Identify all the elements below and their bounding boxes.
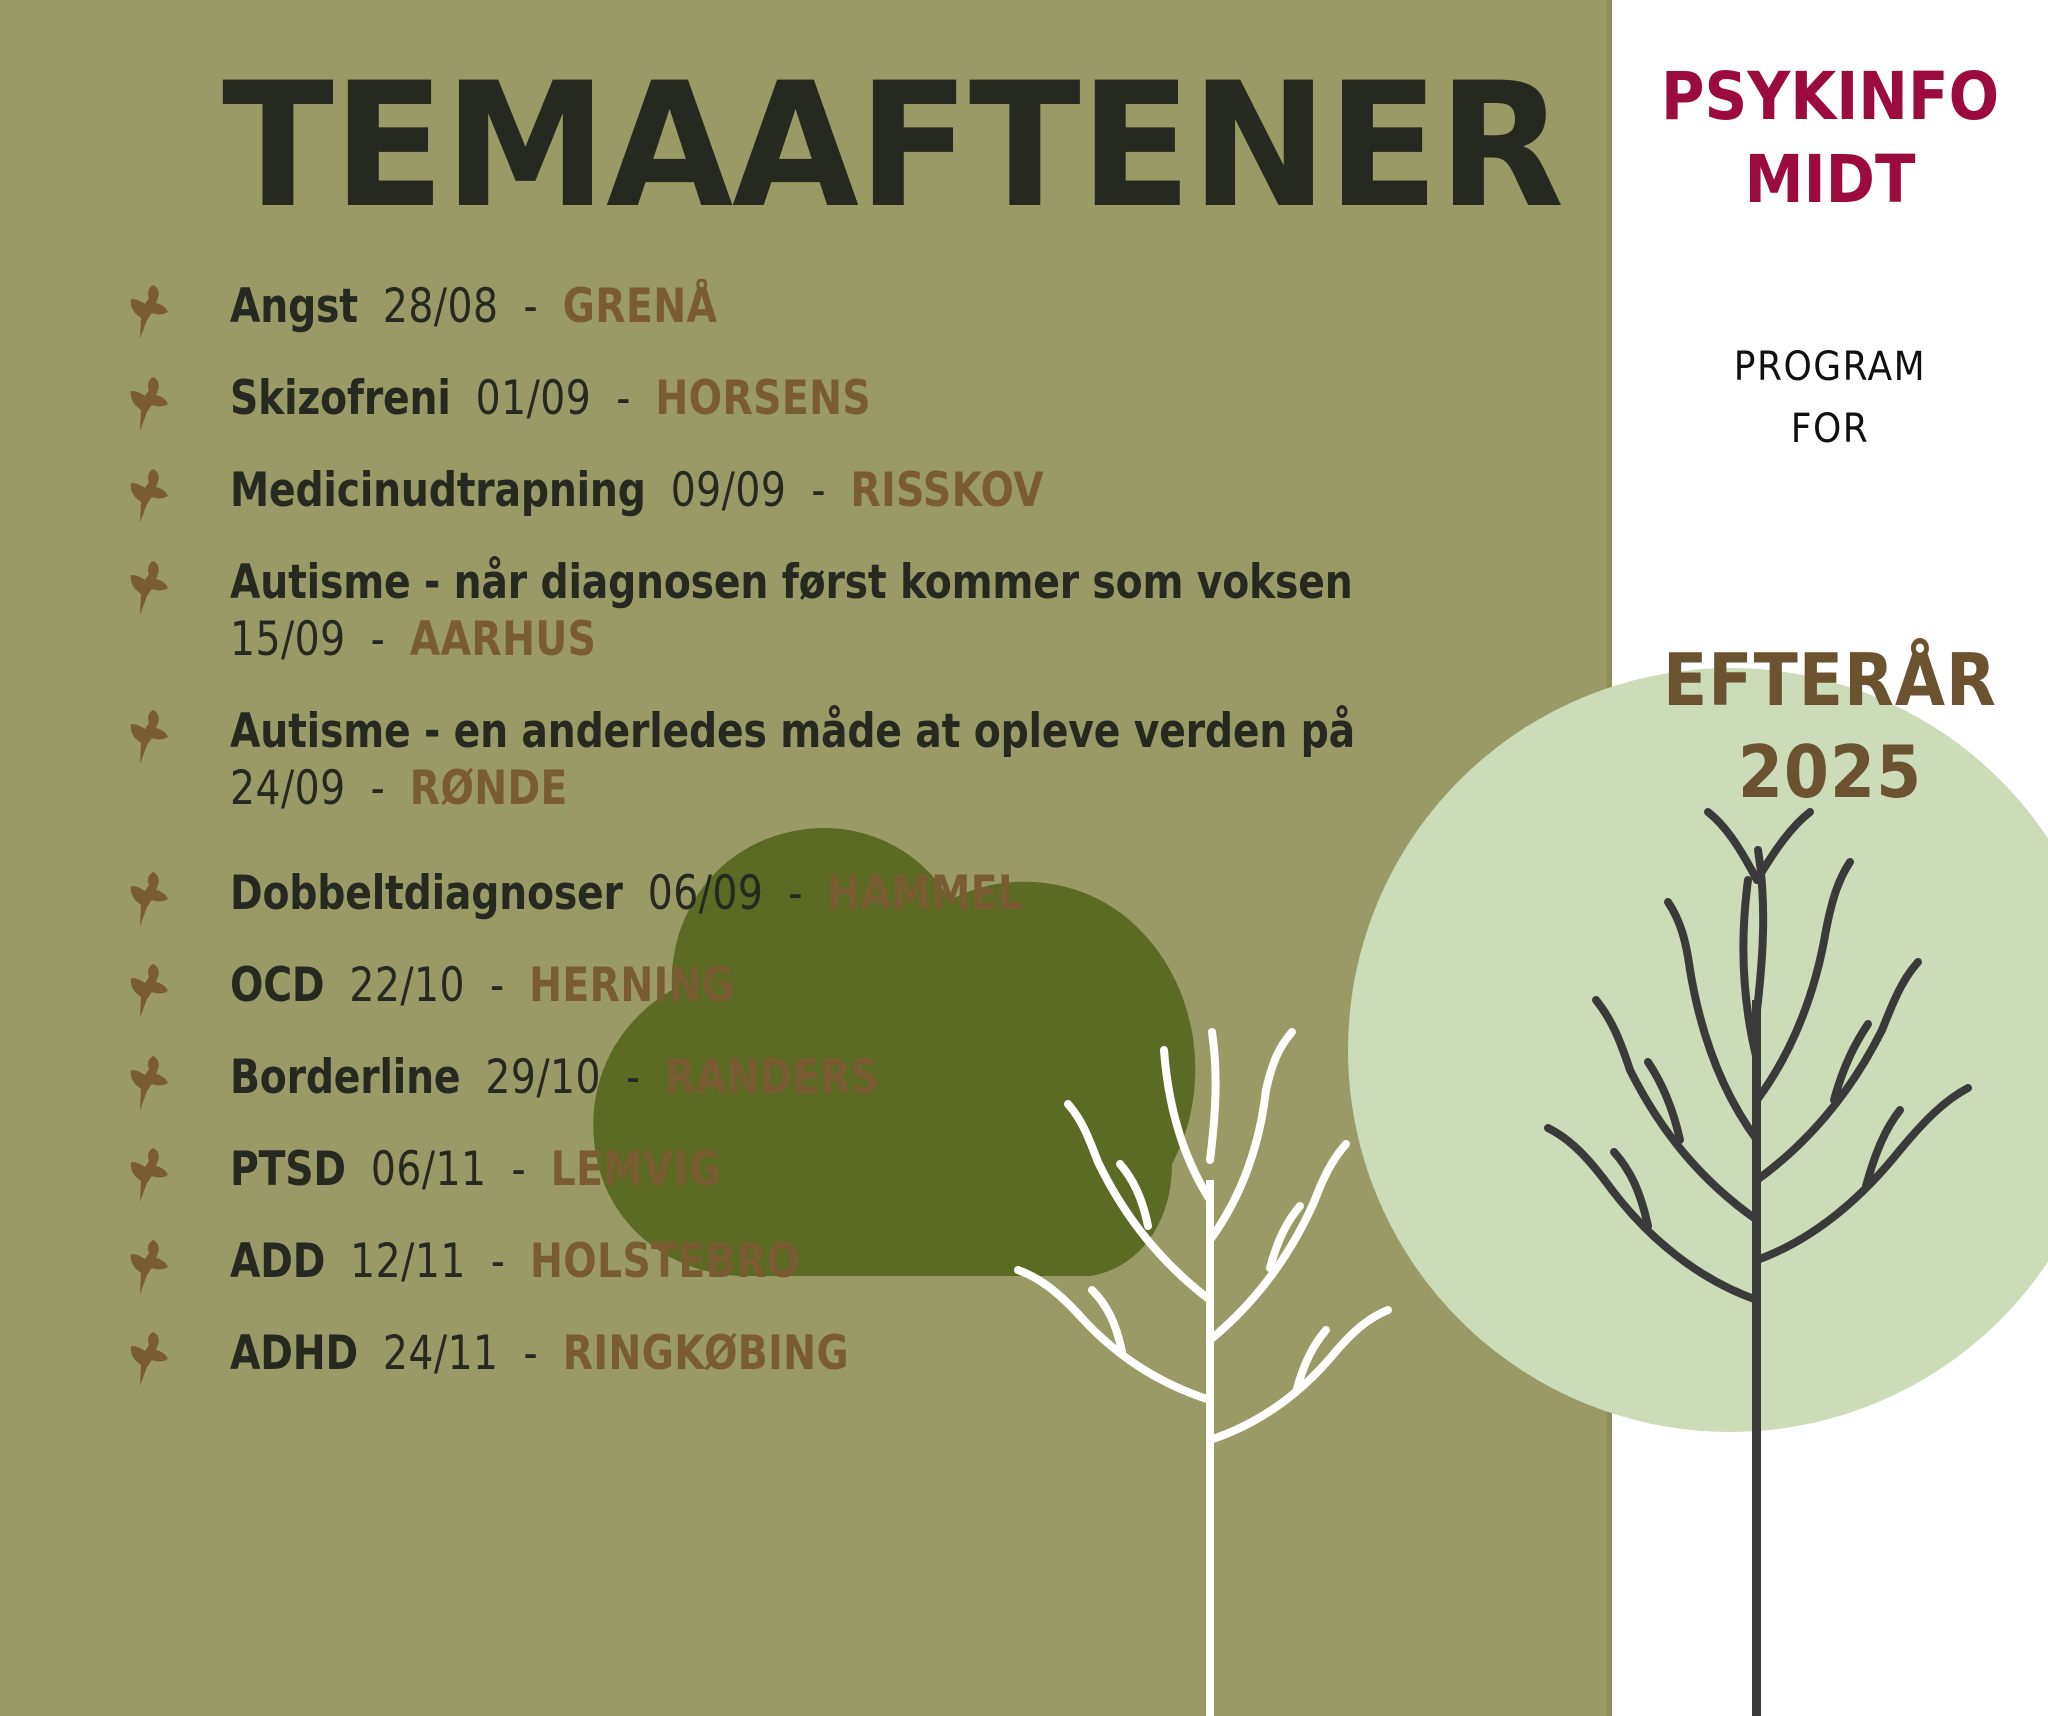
event-date: 09/09 xyxy=(671,463,787,518)
event-text: Autisme - en anderledes måde at opleve v… xyxy=(230,703,1448,818)
pushpin-icon xyxy=(120,957,230,1023)
event-text: Medicinudtrapning 09/09 - RISSKOV xyxy=(230,462,1448,519)
event-city: RISSKOV xyxy=(850,463,1043,518)
event-date: 12/11 xyxy=(350,1234,466,1289)
list-item[interactable]: ADHD 24/11 - RINGKØBING xyxy=(120,1325,1540,1391)
right-sidebar: PSYKINFO MIDT PROGRAM FOR EFTERÅR 2025 xyxy=(1612,0,2048,1716)
brand-logo: PSYKINFO MIDT xyxy=(1612,56,2048,221)
event-text: Angst 28/08 - GRENÅ xyxy=(230,278,1448,335)
pushpin-icon xyxy=(120,462,230,528)
event-city: HAMMEL xyxy=(828,866,1024,921)
event-topic: Skizofreni xyxy=(230,371,451,426)
event-date: 06/09 xyxy=(648,866,764,921)
event-text: ADD 12/11 - HOLSTEBRO xyxy=(230,1233,1448,1290)
list-item[interactable]: Autisme - når diagnosen først kommer som… xyxy=(120,554,1540,669)
event-topic: Autisme - når diagnosen først kommer som… xyxy=(230,555,1353,610)
event-dash: - xyxy=(626,1050,640,1105)
brand-line-midt: MIDT xyxy=(1612,139,2048,222)
event-date: 29/10 xyxy=(485,1050,601,1105)
event-topic: ADHD xyxy=(230,1326,358,1381)
event-city: RINGKØBING xyxy=(563,1326,849,1381)
event-dash: - xyxy=(524,1326,538,1381)
season-year: 2025 xyxy=(1612,726,2048,818)
program-for-label: PROGRAM FOR xyxy=(1612,336,2048,460)
pushpin-icon xyxy=(120,554,230,620)
list-item[interactable]: OCD 22/10 - HERNING xyxy=(120,957,1540,1023)
pushpin-icon xyxy=(120,1325,230,1391)
event-city: LEMVIG xyxy=(551,1142,722,1197)
event-dash: - xyxy=(491,1234,505,1289)
pushpin-icon xyxy=(120,370,230,436)
event-topic: PTSD xyxy=(230,1142,346,1197)
event-dash: - xyxy=(811,463,825,518)
pushpin-icon xyxy=(120,278,230,344)
event-text: Borderline 29/10 - RANDERS xyxy=(230,1049,1448,1106)
event-text: Autisme - når diagnosen først kommer som… xyxy=(230,554,1448,669)
event-topic: Dobbeltdiagnoser xyxy=(230,866,623,921)
event-city: AARHUS xyxy=(410,612,597,667)
event-dash: - xyxy=(788,866,802,921)
event-date: 22/10 xyxy=(349,958,465,1013)
pushpin-icon xyxy=(120,1141,230,1207)
pushpin-icon xyxy=(120,1233,230,1299)
event-city: HERNING xyxy=(529,958,734,1013)
event-dash: - xyxy=(371,761,385,816)
season-label: EFTERÅR 2025 xyxy=(1612,634,2048,818)
event-city: GRENÅ xyxy=(563,279,718,334)
event-dash: - xyxy=(523,279,537,334)
event-dash: - xyxy=(511,1142,525,1197)
event-topic: Borderline xyxy=(230,1050,460,1105)
event-text: OCD 22/10 - HERNING xyxy=(230,957,1448,1014)
list-item[interactable]: ADD 12/11 - HOLSTEBRO xyxy=(120,1233,1540,1299)
list-item[interactable]: Medicinudtrapning 09/09 - RISSKOV xyxy=(120,462,1540,528)
page-title: TEMAAFTENER xyxy=(222,60,1563,232)
event-date: 24/11 xyxy=(383,1326,499,1381)
event-topic: Autisme - en anderledes måde at opleve v… xyxy=(230,704,1355,759)
event-date: 15/09 xyxy=(230,612,346,667)
list-item[interactable]: PTSD 06/11 - LEMVIG xyxy=(120,1141,1540,1207)
pushpin-icon xyxy=(120,1049,230,1115)
list-item[interactable]: Dobbeltdiagnoser 06/09 - HAMMEL xyxy=(120,865,1540,931)
list-item[interactable]: Autisme - en anderledes måde at opleve v… xyxy=(120,703,1540,818)
event-dash: - xyxy=(371,612,385,667)
brand-line-psykinfo: PSYKINFO xyxy=(1612,56,2048,139)
event-date: 06/11 xyxy=(371,1142,487,1197)
event-text: Dobbeltdiagnoser 06/09 - HAMMEL xyxy=(230,865,1448,922)
event-text: Skizofreni 01/09 - HORSENS xyxy=(230,370,1448,427)
event-text: PTSD 06/11 - LEMVIG xyxy=(230,1141,1448,1198)
pushpin-icon xyxy=(120,865,230,931)
event-dash: - xyxy=(616,371,630,426)
season-name: EFTERÅR xyxy=(1612,634,2048,726)
event-city: RØNDE xyxy=(410,761,568,816)
event-topic: Medicinudtrapning xyxy=(230,463,646,518)
program-label: PROGRAM xyxy=(1612,336,2048,398)
event-city: HOLSTEBRO xyxy=(530,1234,800,1289)
list-item[interactable]: Borderline 29/10 - RANDERS xyxy=(120,1049,1540,1115)
for-label: FOR xyxy=(1612,398,2048,460)
event-topic: OCD xyxy=(230,958,324,1013)
event-topic: ADD xyxy=(230,1234,325,1289)
event-date: 24/09 xyxy=(230,761,346,816)
event-topic: Angst xyxy=(230,279,358,334)
events-list: Angst 28/08 - GRENÅ Skizofreni 01/09 - H… xyxy=(120,278,1540,1417)
event-city: RANDERS xyxy=(665,1050,879,1105)
event-text: ADHD 24/11 - RINGKØBING xyxy=(230,1325,1448,1382)
pushpin-icon xyxy=(120,703,230,769)
event-date: 28/08 xyxy=(383,279,499,334)
event-city: HORSENS xyxy=(655,371,871,426)
event-date: 01/09 xyxy=(476,371,592,426)
event-dash: - xyxy=(490,958,504,1013)
poster-canvas: TEMAAFTENER Angst 28/08 - GRENÅ Skizofre… xyxy=(0,0,2048,1716)
list-item[interactable]: Angst 28/08 - GRENÅ xyxy=(120,278,1540,344)
list-item[interactable]: Skizofreni 01/09 - HORSENS xyxy=(120,370,1540,436)
